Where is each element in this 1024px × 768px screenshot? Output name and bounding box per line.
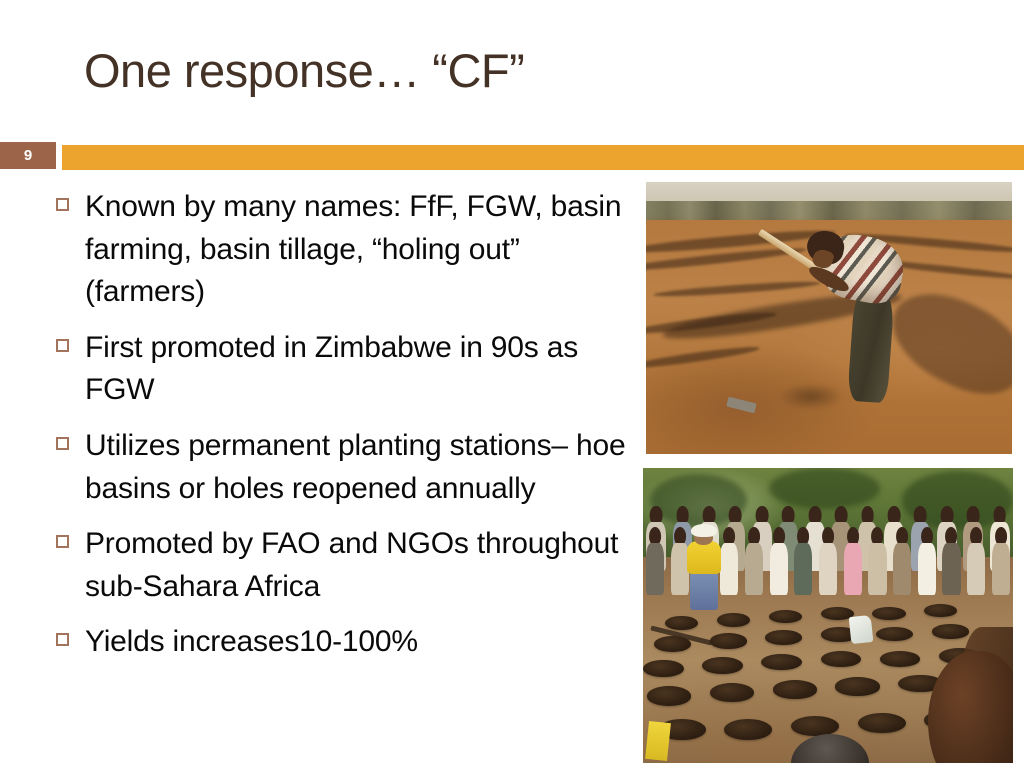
photo-farmer-hoeing <box>646 182 1012 454</box>
list-item: Known by many names: FfF, FGW, basin far… <box>56 186 646 314</box>
photo-planting-basin <box>724 719 772 740</box>
photo-planting-basin <box>710 633 747 648</box>
photo-person <box>743 527 766 595</box>
list-item: First promoted in Zimbabwe in 90s as FGW <box>56 327 646 412</box>
photo-person <box>891 527 914 595</box>
photo-planting-basin <box>880 651 921 667</box>
photo-planting-basin <box>835 677 879 695</box>
page-title: One response… “CF” <box>84 46 944 95</box>
list-item: Utilizes permanent planting stations– ho… <box>56 425 646 510</box>
list-item-text: Utilizes permanent planting stations– ho… <box>85 425 646 510</box>
list-item: Yields increases10-100% <box>56 621 646 664</box>
photo-planting-basin <box>765 630 802 645</box>
photo-person <box>841 527 864 595</box>
list-item: Promoted by FAO and NGOs throughout sub-… <box>56 523 646 608</box>
slide-number-value: 9 <box>24 147 32 164</box>
photo-person <box>792 527 815 595</box>
photo-person <box>644 527 667 595</box>
list-item-text: First promoted in Zimbabwe in 90s as FGW <box>85 327 646 412</box>
photo-planting-basin <box>647 686 691 705</box>
photo-planting-basin <box>643 660 684 678</box>
photo-planting-basin <box>872 607 905 620</box>
photo-person <box>817 527 840 595</box>
photo-white-bag <box>849 614 874 643</box>
photo-planting-basin <box>710 683 754 702</box>
photo-person <box>767 527 790 595</box>
photo-planting-basin <box>654 636 691 652</box>
photo-planting-basin <box>924 604 957 617</box>
photo-person <box>866 527 889 595</box>
hollow-square-bullet-icon <box>56 198 69 211</box>
hollow-square-bullet-icon <box>56 437 69 450</box>
photo-planting-basin <box>702 657 743 674</box>
hollow-square-bullet-icon <box>56 535 69 548</box>
photo-planting-basin <box>773 680 817 698</box>
photo-person <box>965 527 988 595</box>
photo-person <box>989 527 1012 595</box>
hollow-square-bullet-icon <box>56 339 69 352</box>
slide-number-badge: 9 <box>0 142 56 169</box>
photo-person <box>940 527 963 595</box>
photo-planting-basin <box>932 624 969 638</box>
photo-demonstrator-white-hat <box>691 524 717 537</box>
photo-planting-basin <box>717 613 750 627</box>
photo-planting-basin <box>769 610 802 624</box>
list-item-text: Yields increases10-100% <box>85 621 646 664</box>
photo-demonstrator-yellow-shirt <box>687 541 721 574</box>
photo-person <box>915 527 938 595</box>
photo-foliage <box>769 468 880 509</box>
hollow-square-bullet-icon <box>56 633 69 646</box>
bullet-list: Known by many names: FfF, FGW, basin far… <box>56 186 646 677</box>
photo-demonstrator <box>684 524 725 607</box>
accent-bar <box>62 145 1024 170</box>
photo-planting-basin <box>858 713 906 734</box>
list-item-text: Known by many names: FfF, FGW, basin far… <box>85 186 646 314</box>
photo-demonstrator-trousers <box>690 570 718 610</box>
photo-planting-basins-demonstration <box>643 468 1013 763</box>
slide: One response… “CF” 9 Known by many names… <box>0 0 1024 768</box>
photo-yellow-bag <box>645 721 671 761</box>
list-item-text: Promoted by FAO and NGOs throughout sub-… <box>85 523 646 608</box>
